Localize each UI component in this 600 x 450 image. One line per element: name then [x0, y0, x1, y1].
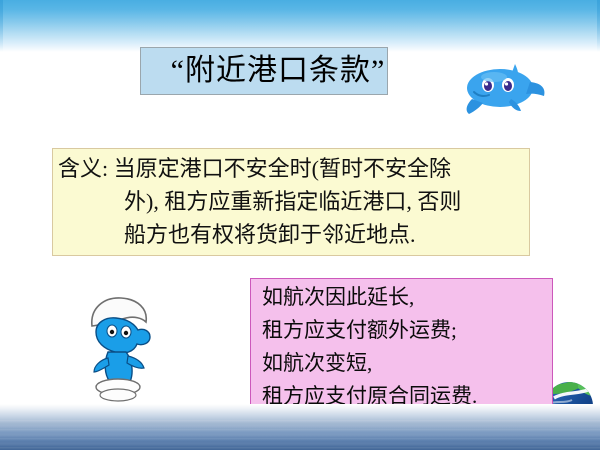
blue-dolphin-icon	[452, 58, 548, 120]
consequence-line-3: 如航次变短,	[262, 347, 552, 380]
consequence-text: 如航次因此延长, 租方应支付额外运费; 如航次变短, 租方应支付原合同运费.	[262, 281, 552, 413]
sea-shimmer-overlay	[0, 420, 600, 450]
consequence-line-1: 如航次因此延长,	[262, 281, 552, 314]
definition-line-3: 船方也有权将货卸于邻近地点.	[58, 218, 528, 251]
presentation-slide: “附近港口条款” 含义: 当原定港口不安全时(暂时不安全除 外), 租方应重新指…	[0, 0, 600, 450]
definition-line-1: 含义: 当原定港口不安全时(暂时不安全除	[58, 152, 528, 185]
definition-line-2: 外), 租方应重新指定临近港口, 否则	[58, 185, 528, 218]
consequence-line-2: 租方应支付额外运费;	[262, 314, 552, 347]
smurf-character-icon	[74, 292, 170, 404]
page-title: “附近港口条款”	[148, 45, 408, 97]
sky-left-edge-accent	[0, 0, 3, 52]
definition-text: 含义: 当原定港口不安全时(暂时不安全除 外), 租方应重新指定临近港口, 否则…	[58, 152, 528, 251]
